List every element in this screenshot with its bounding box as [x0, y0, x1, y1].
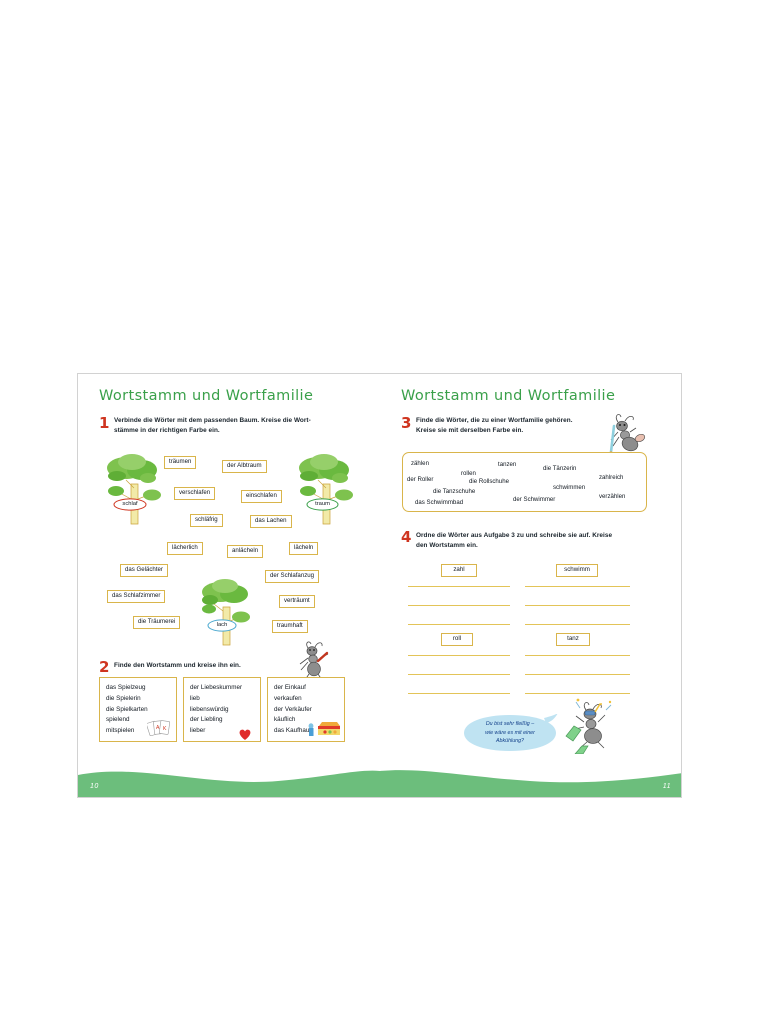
page-number-right: 11 — [663, 783, 671, 790]
word-card[interactable]: lächerlich — [167, 542, 203, 555]
word-card[interactable]: der Albtraum — [222, 460, 267, 473]
exercise-4-instruction: Ordne die Wörter aus Aufgabe 3 zu und sc… — [416, 531, 634, 551]
speech-bubble: Du bist sehr fleißig – wie wäre es mit e… — [462, 714, 558, 752]
exercise-1-number: 1 — [99, 416, 109, 431]
page-number-left: 10 — [90, 783, 99, 790]
scatter-word[interactable]: rollen — [461, 471, 476, 477]
footer-wave-left — [78, 761, 380, 797]
tree-stem-label-lach: lach — [207, 622, 237, 628]
exercise-2-column[interactable]: der Einkauf verkaufen der Verkäufer käuf… — [267, 677, 345, 742]
word-card[interactable]: das Gelächter — [120, 564, 168, 577]
word-card[interactable]: einschlafen — [241, 490, 282, 503]
exercise-2-number: 2 — [99, 660, 109, 675]
word-card[interactable]: das Lachen — [250, 515, 292, 528]
scatter-word[interactable]: die Rollschuhe — [469, 479, 509, 485]
word-card[interactable]: der Schlafanzug — [265, 570, 319, 583]
scatter-word[interactable]: zahlreich — [599, 475, 623, 481]
scatter-word[interactable]: der Roller — [407, 477, 433, 483]
left-page: Wortstamm und Wortfamilie 1 Verbinde die… — [78, 374, 380, 797]
word-card[interactable]: verträumt — [279, 595, 315, 608]
exercise-2-column[interactable]: der Liebeskummer lieb liebenswürdig der … — [183, 677, 261, 742]
exercise-3-word-box[interactable]: zählen rollen tanzen die Tänzerin der Ro… — [402, 452, 647, 512]
word-card[interactable]: die Träumerei — [133, 616, 180, 629]
scatter-word[interactable]: der Schwimmer — [513, 497, 555, 503]
exercise-4-number: 4 — [401, 530, 411, 545]
stem-box[interactable]: roll — [441, 633, 473, 646]
word-item: der Liebling — [190, 715, 254, 726]
writing-line[interactable] — [408, 693, 510, 694]
word-item: das Spielzeug — [106, 683, 170, 694]
market-stall-icon — [306, 720, 342, 742]
word-item: der Einkauf — [274, 683, 338, 694]
writing-line[interactable] — [525, 586, 630, 587]
writing-line[interactable] — [408, 624, 510, 625]
tree-lach: lach — [196, 579, 256, 647]
word-card[interactable]: das Schlafzimmer — [107, 590, 165, 603]
exercise-3-number: 3 — [401, 416, 411, 431]
word-item: die Spielkarten — [106, 705, 170, 716]
svg-text:A: A — [156, 725, 160, 731]
ant-writing-icon — [602, 410, 648, 458]
stem-box[interactable]: tanz — [556, 633, 590, 646]
exercise-3-instruction: Finde die Wörter, die zu einer Wortfamil… — [416, 416, 616, 436]
scatter-word[interactable]: die Tanzschuhe — [433, 489, 475, 495]
writing-line[interactable] — [525, 605, 630, 606]
word-card[interactable]: lächeln — [289, 542, 318, 555]
scatter-word[interactable]: schwimmen — [553, 485, 585, 491]
page-title-left: Wortstamm und Wortfamilie — [99, 388, 313, 404]
tree-stem-label-traum: traum — [306, 501, 339, 507]
writing-line[interactable] — [525, 693, 630, 694]
exercise-2-column[interactable]: das Spielzeug die Spielerin die Spielkar… — [99, 677, 177, 742]
scatter-word[interactable]: verzählen — [599, 494, 625, 500]
word-item: verkaufen — [274, 694, 338, 705]
writing-line[interactable] — [525, 655, 630, 656]
page-title-right: Wortstamm und Wortfamilie — [401, 388, 615, 404]
tree-stem-label-schlaf: schlaf — [113, 501, 147, 507]
speech-bubble-text: Du bist sehr fleißig – wie wäre es mit e… — [469, 720, 551, 746]
writing-line[interactable] — [408, 605, 510, 606]
exercise-1-instruction: Verbinde die Wörter mit dem passenden Ba… — [114, 416, 329, 436]
heart-icon — [238, 728, 252, 746]
word-item: der Liebeskummer — [190, 683, 254, 694]
scatter-word[interactable]: zählen — [411, 461, 429, 467]
word-card[interactable]: anlächeln — [227, 545, 263, 558]
ant-with-snorkel-icon — [562, 696, 620, 754]
writing-line[interactable] — [408, 655, 510, 656]
ant-with-pencil-icon — [294, 638, 334, 680]
word-card[interactable]: schläfrig — [190, 514, 223, 527]
stem-box[interactable]: zahl — [441, 564, 477, 577]
right-page: Wortstamm und Wortfamilie 3 Finde die Wö… — [380, 374, 682, 797]
writing-line[interactable] — [408, 586, 510, 587]
scatter-word[interactable]: die Tänzerin — [543, 466, 576, 472]
scatter-word[interactable]: tanzen — [498, 462, 516, 468]
playing-cards-icon: A K — [147, 718, 173, 741]
word-item: die Spielerin — [106, 694, 170, 705]
word-item: liebenswürdig — [190, 705, 254, 716]
writing-line[interactable] — [525, 674, 630, 675]
writing-line[interactable] — [525, 624, 630, 625]
word-item: der Verkäufer — [274, 705, 338, 716]
word-card[interactable]: traumhaft — [272, 620, 308, 633]
workbook-spread: Wortstamm und Wortfamilie 1 Verbinde die… — [77, 373, 682, 798]
footer-wave-right — [380, 761, 682, 797]
tree-traum: traum — [296, 454, 356, 526]
word-card[interactable]: verschlafen — [174, 487, 215, 500]
tree-schlaf: schlaf — [104, 454, 164, 526]
word-card[interactable]: träumen — [164, 456, 196, 469]
scatter-word[interactable]: das Schwimmbad — [415, 500, 463, 506]
writing-line[interactable] — [408, 674, 510, 675]
stem-box[interactable]: schwimm — [556, 564, 598, 577]
word-item: lieb — [190, 694, 254, 705]
